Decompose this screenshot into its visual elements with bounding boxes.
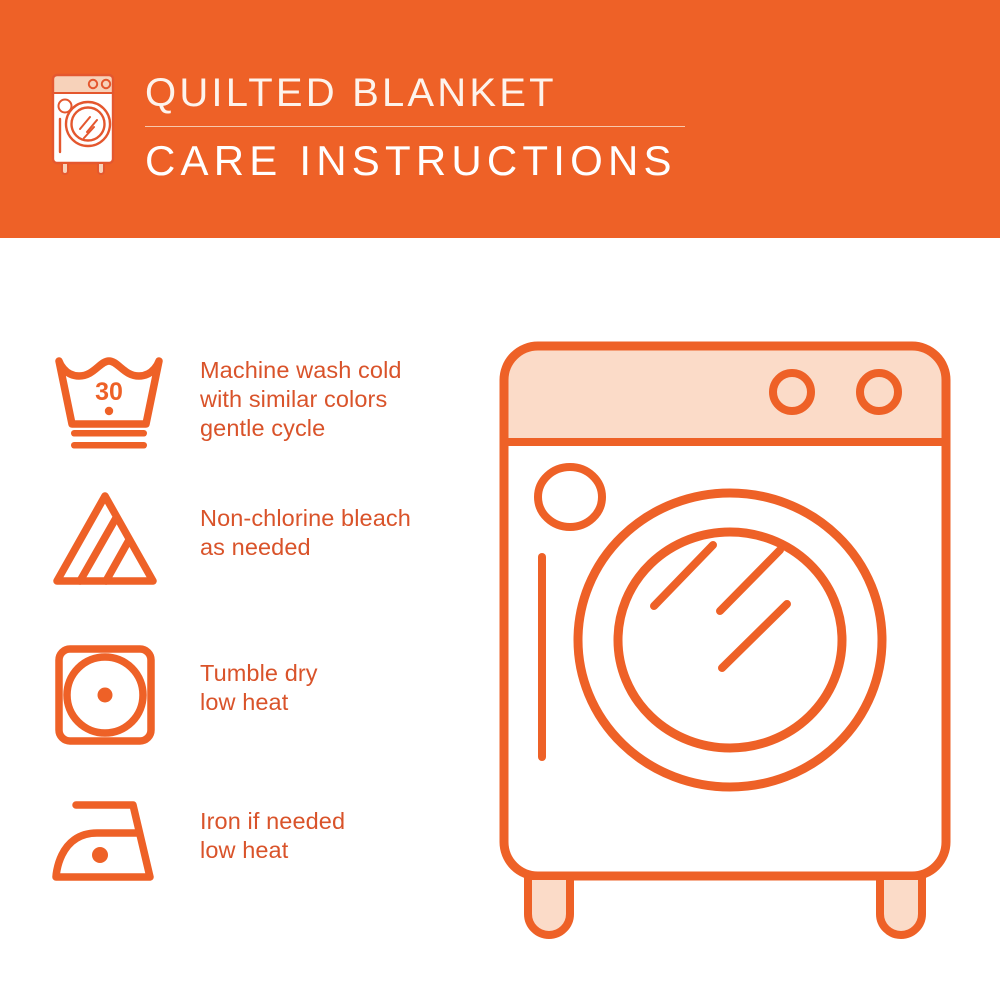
leg-right [880, 876, 922, 935]
care-item-bleach: Non-chlorine bleach as needed [50, 488, 411, 592]
care-item-label: Non-chlorine bleach as needed [200, 488, 411, 562]
tumble-dry-low-icon [50, 643, 168, 747]
page-subtitle: CARE INSTRUCTIONS [145, 137, 705, 185]
bleach-triangle-icon [50, 488, 168, 592]
care-instructions-list: 30 Machine wash cold with similar colors… [0, 238, 480, 1000]
leg-left [528, 876, 570, 935]
header-text-block: QUILTED BLANKET CARE INSTRUCTIONS [145, 70, 705, 185]
care-item-label: Machine wash cold with similar colors ge… [200, 350, 402, 443]
wash-basin-30-icon: 30 [50, 350, 168, 454]
title-divider [145, 126, 685, 127]
iron-low-heat-icon [50, 791, 168, 895]
care-item-label: Tumble dry low heat [200, 643, 318, 717]
care-item-machine-wash: 30 Machine wash cold with similar colors… [50, 350, 402, 454]
page-title: QUILTED BLANKET [145, 70, 705, 116]
care-item-iron: Iron if needed low heat [50, 791, 345, 895]
care-item-tumble-dry: Tumble dry low heat [50, 643, 318, 747]
washing-machine-icon [44, 66, 122, 178]
header-banner: QUILTED BLANKET CARE INSTRUCTIONS [0, 0, 1000, 238]
care-item-label: Iron if needed low heat [200, 791, 345, 865]
svg-text:30: 30 [95, 378, 123, 406]
front-load-washing-machine-illustration [490, 330, 960, 945]
